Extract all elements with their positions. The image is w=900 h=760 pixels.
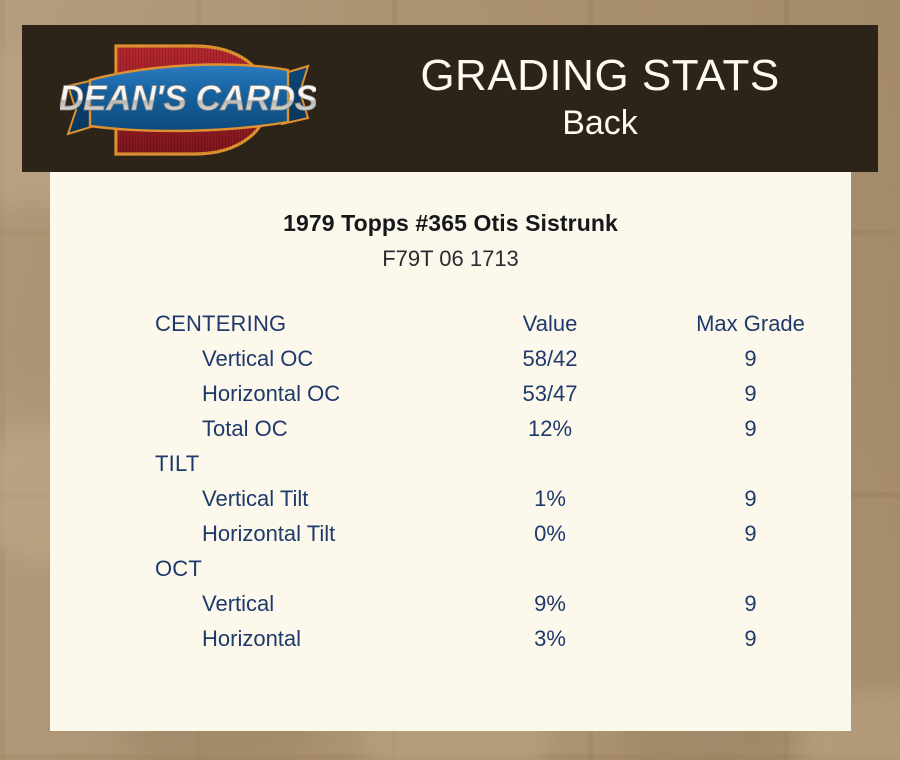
logo-banner: DEAN'S CARDS [60, 65, 316, 134]
table-head: CENTERING Value Max Grade [50, 306, 851, 341]
grading-stats-page: DEAN'S CARDS GRADING STATS Back 1979 Top… [0, 0, 900, 760]
card-title: 1979 Topps #365 Otis Sistrunk [50, 210, 851, 237]
logo-banner-text: DEAN'S CARDS [60, 79, 316, 118]
stat-label-total-oc: Total OC [50, 411, 450, 446]
deans-cards-logo[interactable]: DEAN'S CARDS [60, 30, 316, 170]
stat-max-grade-vertical-oc: 9 [650, 341, 851, 376]
table-body: Vertical OC58/429Horizontal OC53/479Tota… [50, 341, 851, 656]
stat-label-vertical-oc: Vertical OC [50, 341, 450, 376]
stat-value-vertical: 9% [450, 586, 650, 621]
stat-max-grade-horizontal-tilt: 9 [650, 516, 851, 551]
section-heading-row-oct: OCT [50, 551, 851, 586]
stat-label-horizontal: Horizontal [50, 621, 450, 656]
stat-value-vertical-oc: 58/42 [450, 341, 650, 376]
stat-max-grade-vertical-tilt: 9 [650, 481, 851, 516]
table-row: Vertical OC58/429 [50, 341, 851, 376]
stat-max-grade-horizontal: 9 [650, 621, 851, 656]
section-spacer-cell [450, 446, 650, 481]
stat-value-vertical-tilt: 1% [450, 481, 650, 516]
stat-value-horizontal: 3% [450, 621, 650, 656]
table-row: Horizontal3%9 [50, 621, 851, 656]
section-label-oct: OCT [50, 551, 450, 586]
table-row: Vertical Tilt1%9 [50, 481, 851, 516]
column-header-value: Value [450, 306, 650, 341]
column-header-max-grade: Max Grade [650, 306, 851, 341]
stat-label-horizontal-tilt: Horizontal Tilt [50, 516, 450, 551]
stat-max-grade-horizontal-oc: 9 [650, 376, 851, 411]
table-row: Vertical9%9 [50, 586, 851, 621]
section-heading-row-tilt: TILT [50, 446, 851, 481]
table-row: Total OC12%9 [50, 411, 851, 446]
page-subtitle: Back [562, 102, 638, 144]
stat-label-vertical: Vertical [50, 586, 450, 621]
header-title-group: GRADING STATS Back [322, 25, 878, 172]
section-spacer-cell [650, 446, 851, 481]
stat-value-horizontal-oc: 53/47 [450, 376, 650, 411]
table-row: Horizontal Tilt0%9 [50, 516, 851, 551]
section-spacer-cell [650, 551, 851, 586]
stat-value-total-oc: 12% [450, 411, 650, 446]
stat-label-horizontal-oc: Horizontal OC [50, 376, 450, 411]
stat-label-vertical-tilt: Vertical Tilt [50, 481, 450, 516]
card-serial-number: F79T 06 1713 [50, 246, 851, 272]
stat-value-horizontal-tilt: 0% [450, 516, 650, 551]
table-header-row: CENTERING Value Max Grade [50, 306, 851, 341]
header-bar: DEAN'S CARDS GRADING STATS Back [22, 25, 878, 172]
stat-max-grade-total-oc: 9 [650, 411, 851, 446]
grading-stats-table: CENTERING Value Max Grade Vertical OC58/… [50, 306, 851, 656]
section-label-tilt: TILT [50, 446, 450, 481]
content-panel: 1979 Topps #365 Otis Sistrunk F79T 06 17… [50, 172, 851, 731]
column-header-centering: CENTERING [50, 306, 450, 341]
table-row: Horizontal OC53/479 [50, 376, 851, 411]
section-spacer-cell [450, 551, 650, 586]
page-title: GRADING STATS [420, 50, 779, 102]
stat-max-grade-vertical: 9 [650, 586, 851, 621]
